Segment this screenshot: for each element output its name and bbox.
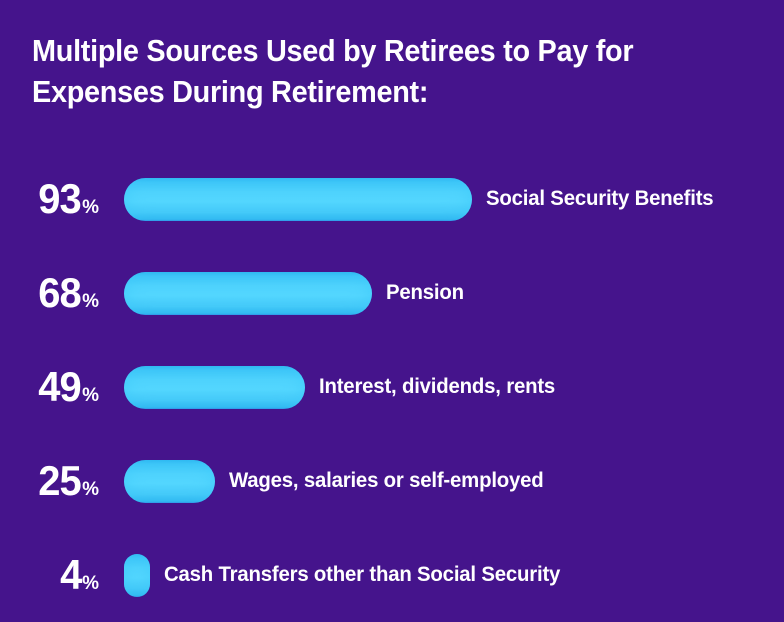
bar-row: 93% Social Security Benefits	[0, 152, 784, 246]
bar-value-number: 93	[39, 178, 81, 220]
bar-value-percent: %	[82, 197, 99, 218]
bar-value-number: 25	[39, 460, 81, 502]
bar-chart: 93% Social Security Benefits 68% Pension…	[0, 152, 784, 618]
bar-value-percent: %	[82, 573, 99, 594]
bar-row: 49% Interest, dividends, rents	[0, 340, 784, 434]
bar-row: 68% Pension	[0, 246, 784, 340]
bar-category-label: Interest, dividends, rents	[319, 375, 555, 399]
bar-value-percent: %	[82, 291, 99, 312]
bar-category-label: Cash Transfers other than Social Securit…	[164, 563, 560, 587]
bar-category-label: Pension	[386, 281, 464, 305]
bar-value: 93%	[0, 178, 100, 220]
bar-category-label: Social Security Benefits	[486, 187, 713, 211]
page-title: Multiple Sources Used by Retirees to Pay…	[32, 30, 692, 112]
bar-track	[124, 554, 150, 597]
bar-value-percent: %	[82, 479, 99, 500]
bar-value-number: 68	[39, 272, 81, 314]
bar-track	[124, 460, 215, 503]
bar-category-label: Wages, salaries or self-employed	[229, 469, 544, 493]
bar-track	[124, 178, 472, 221]
bar-fill	[124, 554, 150, 597]
bar-value: 68%	[0, 272, 100, 314]
bar-value-number: 4	[60, 554, 81, 596]
bar-track	[124, 272, 372, 315]
bar-fill	[124, 178, 472, 221]
bar-track	[124, 366, 305, 409]
bar-row: 25% Wages, salaries or self-employed	[0, 434, 784, 528]
bar-fill	[124, 460, 215, 503]
bar-value: 49%	[0, 366, 100, 408]
bar-value: 25%	[0, 460, 100, 502]
infographic-canvas: Multiple Sources Used by Retirees to Pay…	[0, 0, 784, 622]
bar-fill	[124, 366, 305, 409]
bar-value-percent: %	[82, 385, 99, 406]
bar-fill	[124, 272, 372, 315]
bar-row: 4% Cash Transfers other than Social Secu…	[0, 528, 784, 622]
bar-value: 4%	[0, 554, 100, 596]
bar-value-number: 49	[39, 366, 81, 408]
